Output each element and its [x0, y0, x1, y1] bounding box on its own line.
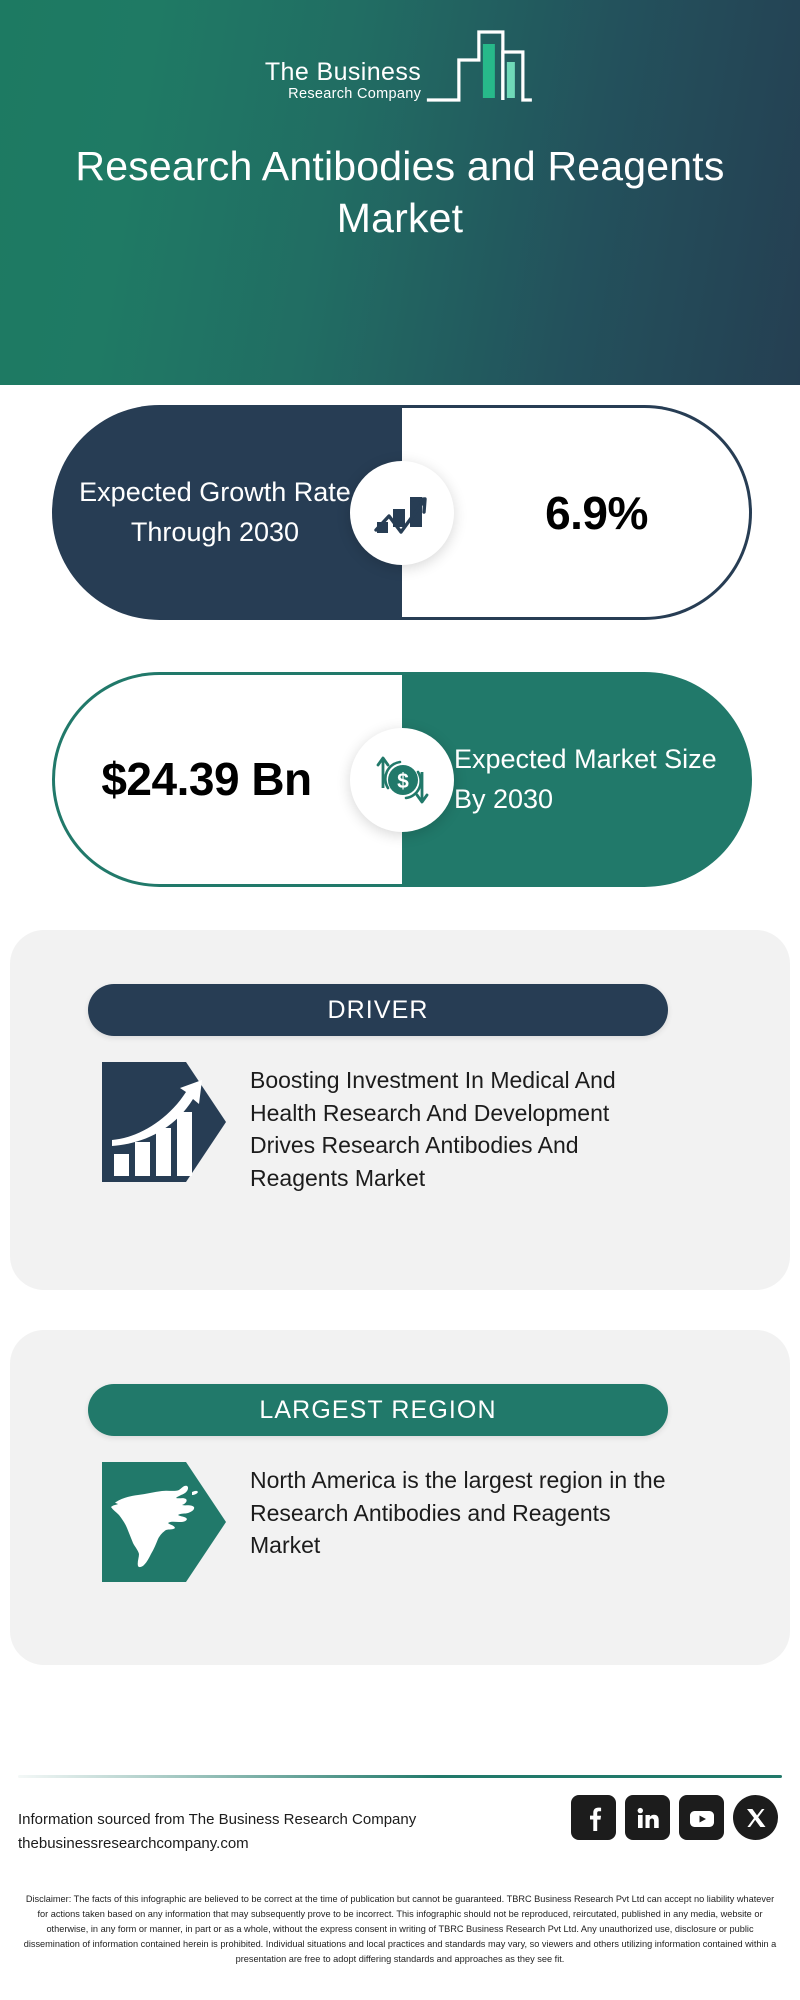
driver-description: Boosting Investment In Medical And Healt…: [250, 1062, 675, 1195]
linkedin-icon[interactable]: [625, 1795, 670, 1840]
facebook-icon[interactable]: [571, 1795, 616, 1840]
largest-region-panel: LARGEST REGION North America is the larg…: [10, 1330, 790, 1665]
dollar-exchange-icon: $: [350, 728, 454, 832]
driver-heading-pill: DRIVER: [88, 984, 668, 1036]
source-attribution: Information sourced from The Business Re…: [18, 1808, 416, 1856]
driver-panel: DRIVER Boosting Investment In Medical An…: [10, 930, 790, 1290]
driver-body: Boosting Investment In Medical And Healt…: [10, 1062, 790, 1195]
disclaimer-text: Disclaimer: The facts of this infographi…: [22, 1892, 778, 1967]
stat-card-growth-rate: Expected Growth Rate Through 2030 6.9%: [52, 405, 752, 620]
market-size-value: $24.39 Bn: [101, 752, 355, 807]
growth-bars-arrow-icon: [102, 1062, 226, 1187]
page-title: Research Antibodies and Reagents Market: [0, 140, 800, 245]
growth-chart-icon: [350, 461, 454, 565]
largest-region-description: North America is the largest region in t…: [250, 1462, 675, 1562]
source-line-1: Information sourced from The Business Re…: [18, 1808, 416, 1832]
infographic-page: The Business Research Company Research A…: [0, 0, 800, 2000]
north-america-map-icon: [102, 1462, 226, 1587]
driver-heading-label: DRIVER: [327, 996, 428, 1025]
largest-region-body: North America is the largest region in t…: [10, 1462, 790, 1587]
market-size-label: Expected Market Size By 2030: [402, 740, 752, 818]
logo-text-block: The Business Research Company: [265, 59, 421, 110]
stat-card-market-size: $24.39 Bn Expected Market Size By 2030 $: [52, 672, 752, 887]
growth-rate-value-half: 6.9%: [402, 405, 752, 620]
source-line-2[interactable]: thebusinessresearchcompany.com: [18, 1832, 416, 1856]
bar-chart-logo-mark: [423, 26, 535, 109]
logo-line-secondary: Research Company: [288, 85, 421, 104]
footer-divider: [18, 1775, 782, 1778]
market-size-label-half: Expected Market Size By 2030: [402, 672, 752, 887]
largest-region-heading-pill: LARGEST REGION: [88, 1384, 668, 1436]
company-logo: The Business Research Company: [265, 26, 535, 110]
social-links: [571, 1795, 778, 1840]
largest-region-heading-label: LARGEST REGION: [259, 1396, 496, 1425]
logo-line-primary: The Business: [265, 59, 421, 85]
svg-text:$: $: [397, 770, 409, 793]
growth-rate-value: 6.9%: [503, 486, 648, 540]
header-banner: The Business Research Company Research A…: [0, 0, 800, 385]
youtube-icon[interactable]: [679, 1795, 724, 1840]
x-twitter-icon[interactable]: [733, 1795, 778, 1840]
